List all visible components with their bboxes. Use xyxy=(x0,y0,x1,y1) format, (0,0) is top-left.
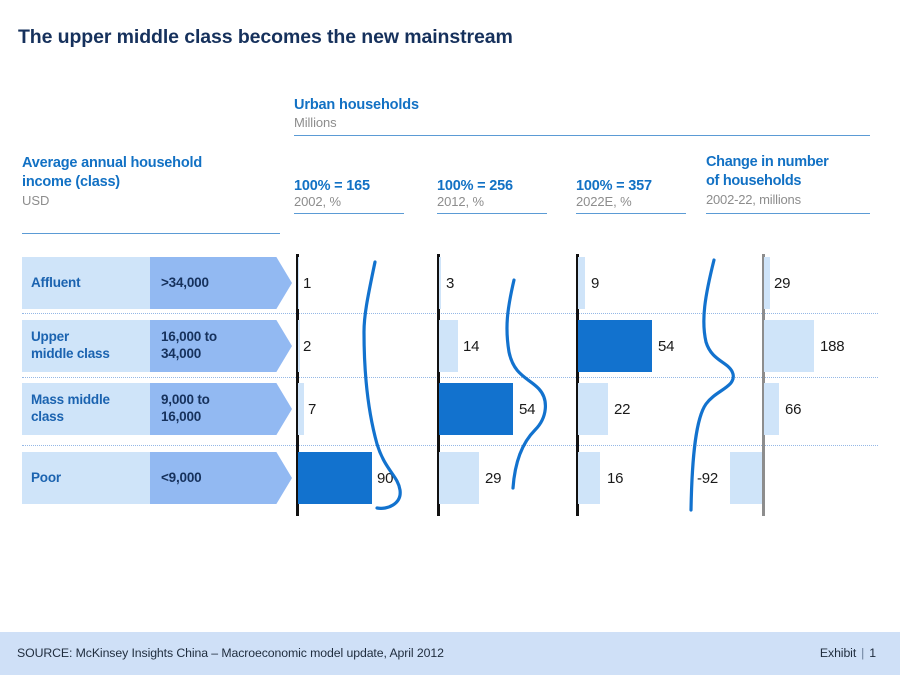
column-period-2002: 2002, % xyxy=(294,194,404,209)
income-header-rule xyxy=(22,233,280,234)
row-divider-3 xyxy=(22,445,878,446)
bar-2012-affluent xyxy=(439,257,441,309)
exhibit-label: Exhibit xyxy=(820,646,856,660)
urban-households-header: Urban households Millions xyxy=(294,96,870,136)
change-header-line2: of households xyxy=(706,172,870,191)
class-label-box-affluent: Affluent xyxy=(22,257,150,309)
bar-change-poor xyxy=(730,452,762,504)
income-header-line1: Average annual household xyxy=(22,154,280,173)
value-2002-affluent: 1 xyxy=(303,257,311,309)
value-2022-upper-middle-class: 54 xyxy=(658,320,674,372)
urban-households-title: Urban households xyxy=(294,96,870,114)
urban-households-unit: Millions xyxy=(294,114,870,132)
column-rule-2002 xyxy=(294,213,404,214)
column-period-2022: 2022E, % xyxy=(576,194,686,209)
column-total-2022: 100% = 357 xyxy=(576,178,686,194)
column-total-2012: 100% = 256 xyxy=(437,178,547,194)
income-value-upper-middle-class: 16,000 to 34,000 xyxy=(150,329,217,363)
bar-change-affluent xyxy=(764,257,770,309)
row-divider-2 xyxy=(22,377,878,378)
bar-2022-affluent xyxy=(578,257,585,309)
column-header-2022: 100% = 357 2022E, % xyxy=(576,178,686,214)
bar-change-mass-middle-class xyxy=(764,383,779,435)
value-2002-poor: 90 xyxy=(377,452,393,504)
income-value-affluent: >34,000 xyxy=(150,275,209,292)
change-column-header: Change in number of households 2002-22, … xyxy=(706,153,870,214)
bar-2012-upper-middle-class xyxy=(439,320,458,372)
change-header-rule xyxy=(706,213,870,214)
column-header-2002: 100% = 165 2002, % xyxy=(294,178,404,214)
value-change-poor: -92 xyxy=(697,452,718,504)
value-2012-affluent: 3 xyxy=(446,257,454,309)
footer-band: SOURCE: McKinsey Insights China – Macroe… xyxy=(0,632,900,675)
bar-change-upper-middle-class xyxy=(764,320,814,372)
bar-2002-affluent xyxy=(298,257,299,309)
class-label-box-mass-middle-class: Mass middle class xyxy=(22,383,150,435)
source-note: SOURCE: McKinsey Insights China – Macroe… xyxy=(17,646,444,660)
income-column-header: Average annual household income (class) … xyxy=(22,154,280,210)
income-value-mass-middle-class: 9,000 to 16,000 xyxy=(150,392,210,426)
bar-2022-upper-middle-class xyxy=(578,320,652,372)
value-2022-affluent: 9 xyxy=(591,257,599,309)
value-change-upper-middle-class: 188 xyxy=(820,320,844,372)
value-2002-upper-middle-class: 2 xyxy=(303,320,311,372)
bar-2012-mass-middle-class xyxy=(439,383,513,435)
class-label-affluent: Affluent xyxy=(22,275,80,292)
column-rule-2012 xyxy=(437,213,547,214)
column-period-2012: 2012, % xyxy=(437,194,547,209)
value-2012-poor: 29 xyxy=(485,452,501,504)
bar-2002-mass-middle-class xyxy=(298,383,304,435)
column-rule-2022 xyxy=(576,213,686,214)
income-arrow-upper-middle-class: 16,000 to 34,000 xyxy=(150,320,292,372)
bar-2012-poor xyxy=(439,452,479,504)
bar-2022-mass-middle-class xyxy=(578,383,608,435)
column-total-2002: 100% = 165 xyxy=(294,178,404,194)
change-header-line1: Change in number xyxy=(706,153,870,172)
value-2022-mass-middle-class: 22 xyxy=(614,383,630,435)
class-label-poor: Poor xyxy=(22,470,61,487)
bar-2002-poor xyxy=(298,452,372,504)
income-value-poor: <9,000 xyxy=(150,470,201,487)
income-arrow-mass-middle-class: 9,000 to 16,000 xyxy=(150,383,292,435)
bar-2022-poor xyxy=(578,452,600,504)
exhibit-number: 1 xyxy=(869,646,876,660)
value-change-mass-middle-class: 66 xyxy=(785,383,801,435)
value-2002-mass-middle-class: 7 xyxy=(308,383,316,435)
value-change-affluent: 29 xyxy=(774,257,790,309)
value-2022-poor: 16 xyxy=(607,452,623,504)
change-header-unit: 2002-22, millions xyxy=(706,191,870,209)
page-title: The upper middle class becomes the new m… xyxy=(18,26,513,49)
value-2012-mass-middle-class: 54 xyxy=(519,383,535,435)
income-header-line2: income (class) xyxy=(22,173,280,192)
urban-households-rule xyxy=(294,135,870,136)
exhibit-separator: | xyxy=(856,646,869,660)
income-header-unit: USD xyxy=(22,192,280,210)
class-label-box-upper-middle-class: Upper middle class xyxy=(22,320,150,372)
bar-2002-upper-middle-class xyxy=(298,320,300,372)
column-header-2012: 100% = 256 2012, % xyxy=(437,178,547,214)
income-arrow-affluent: >34,000 xyxy=(150,257,292,309)
row-divider-1 xyxy=(22,313,878,314)
class-label-mass-middle-class: Mass middle class xyxy=(22,392,110,426)
class-label-box-poor: Poor xyxy=(22,452,150,504)
exhibit-label-group: Exhibit|1 xyxy=(820,646,876,660)
value-2012-upper-middle-class: 14 xyxy=(463,320,479,372)
income-arrow-poor: <9,000 xyxy=(150,452,292,504)
class-label-upper-middle-class: Upper middle class xyxy=(22,329,110,363)
